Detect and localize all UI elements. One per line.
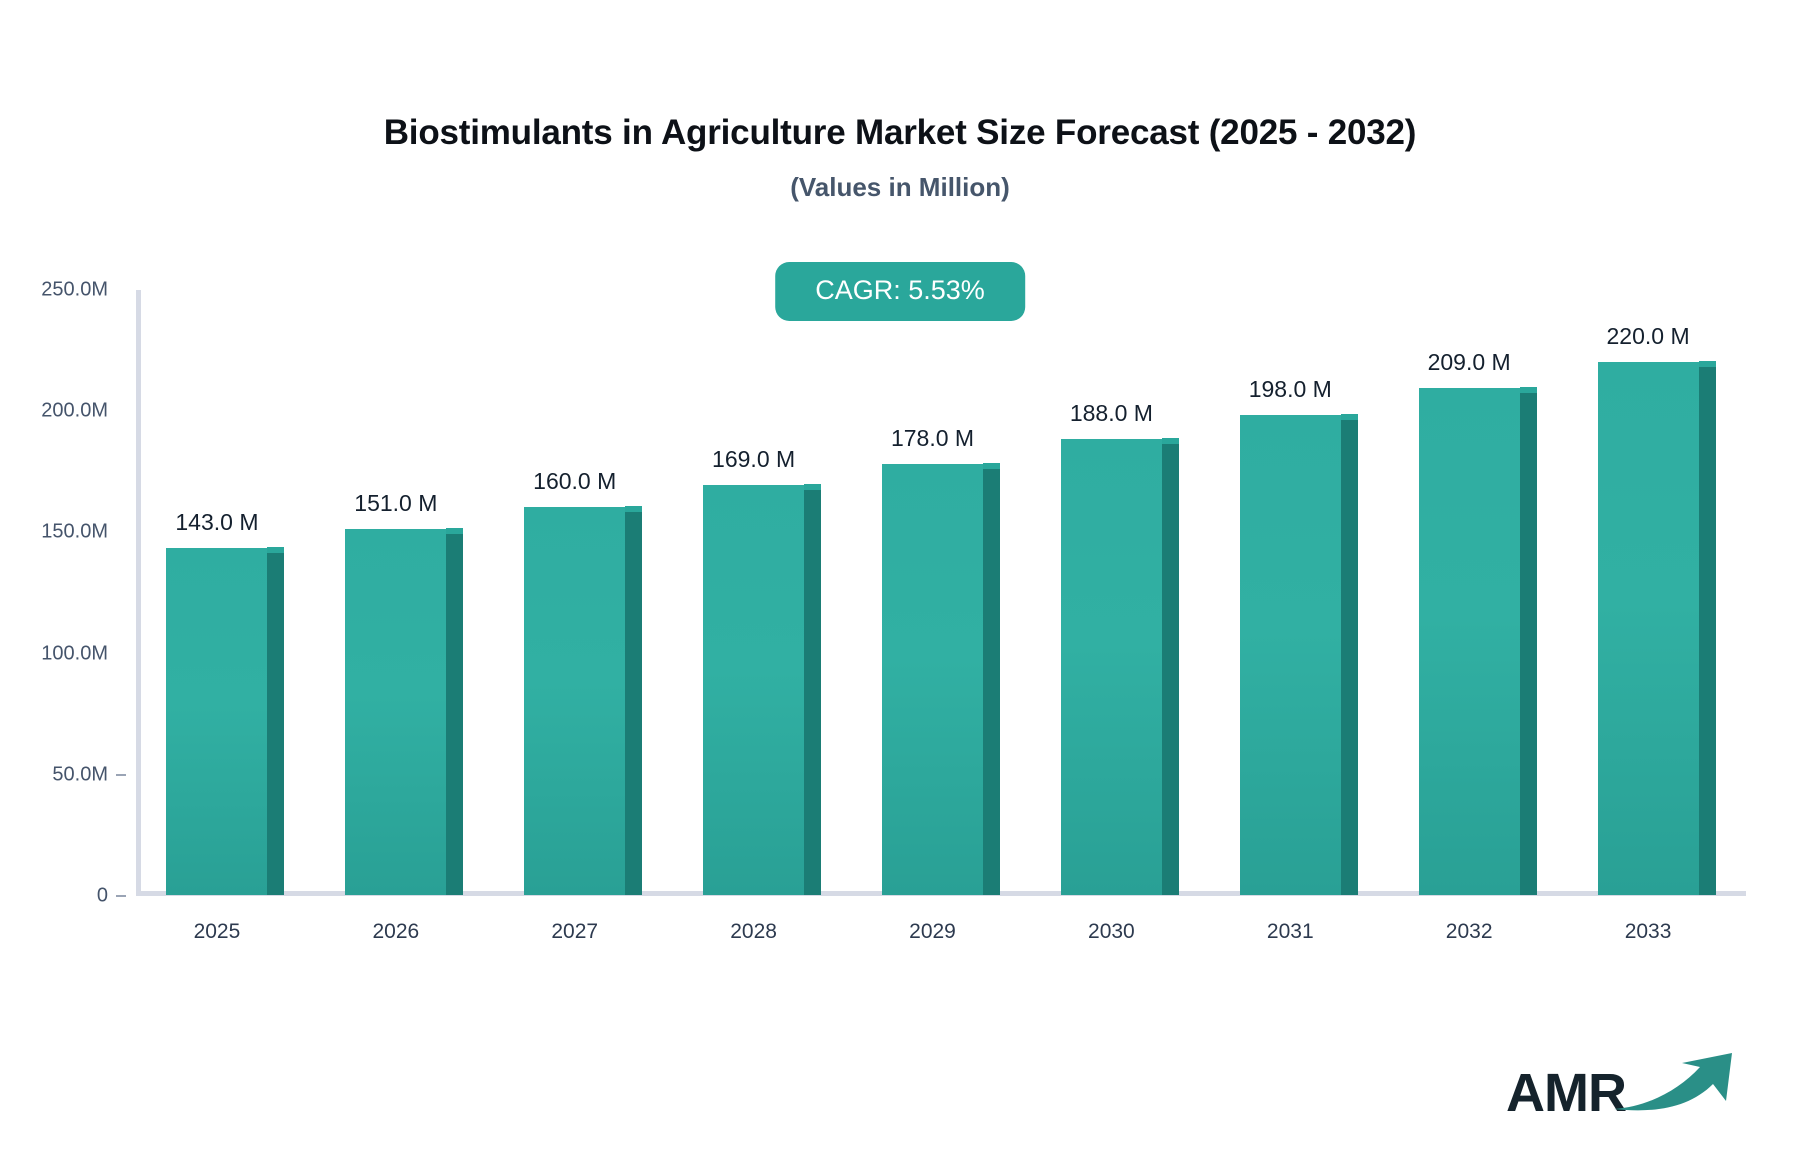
bar-side-face [1162,439,1179,895]
bar[interactable]: 188.0 M [1061,439,1179,895]
bar-front-face [1061,439,1162,895]
bar-top-face [983,463,1000,469]
growth-arrow-icon [1612,1051,1742,1118]
bar-front-face [703,485,804,895]
bar[interactable]: 160.0 M [524,507,642,895]
bar-value-label: 169.0 M [712,446,795,473]
bar-side-face [983,464,1000,895]
bar[interactable]: 220.0 M [1598,362,1716,895]
bar-side-face [267,548,284,895]
x-axis-tick-label: 2029 [909,920,956,944]
bar-top-face [1520,387,1537,393]
x-axis-tick-label: 2025 [194,920,241,944]
bar-top-face [1162,438,1179,444]
bar-front-face [345,529,446,895]
y-axis-tick-label: 50.0M [0,763,108,786]
bar[interactable]: 151.0 M [345,529,463,895]
bar-side-face [804,485,821,895]
bar-front-face [1240,415,1341,895]
bar-value-label: 143.0 M [175,509,258,536]
bar-side-face [1520,388,1537,895]
bar-value-label: 209.0 M [1428,349,1511,376]
bar-top-face [446,528,463,534]
x-axis-tick-label: 2027 [551,920,598,944]
bar-side-face [1699,362,1716,895]
y-axis-tick-label: 0 [0,885,108,908]
bar-value-label: 220.0 M [1606,323,1689,350]
bar-top-face [1699,361,1716,367]
bar-top-face [625,506,642,512]
x-axis-tick-label: 2033 [1625,920,1672,944]
x-axis-tick-label: 2031 [1267,920,1314,944]
x-axis-tick-label: 2032 [1446,920,1493,944]
bar-front-face [882,464,983,895]
bar-front-face [1598,362,1699,895]
bar-value-label: 178.0 M [891,425,974,452]
bar-front-face [166,548,267,895]
bar-top-face [1341,414,1358,420]
chart-subtitle: (Values in Million) [0,172,1800,203]
bar-top-face [804,484,821,490]
bar-value-label: 188.0 M [1070,400,1153,427]
amr-logo-text: AMR [1506,1066,1626,1120]
bar-side-face [1341,415,1358,895]
bar-top-face [267,547,284,553]
chart-canvas: Biostimulants in Agriculture Market Size… [0,0,1800,1156]
bar-front-face [1419,388,1520,895]
bar[interactable]: 169.0 M [703,485,821,895]
y-axis-tick-mark [116,774,126,776]
x-axis-tick-label: 2026 [372,920,419,944]
bar-front-face [524,507,625,895]
x-axis-tick-label: 2030 [1088,920,1135,944]
bar-value-label: 160.0 M [533,468,616,495]
y-axis-tick-label: 200.0M [0,400,108,423]
bar[interactable]: 198.0 M [1240,415,1358,895]
bar-side-face [625,507,642,895]
y-axis-tick-label: 250.0M [0,279,108,302]
bar-side-face [446,529,463,895]
amr-logo: AMR [1506,1051,1742,1120]
page-title: Biostimulants in Agriculture Market Size… [0,113,1800,153]
bar-value-label: 198.0 M [1249,376,1332,403]
bar[interactable]: 143.0 M [166,548,284,895]
bar[interactable]: 209.0 M [1419,388,1537,895]
y-axis-line [136,290,141,896]
bar-value-label: 151.0 M [354,490,437,517]
y-axis-tick-label: 150.0M [0,521,108,544]
x-axis-tick-label: 2028 [730,920,777,944]
y-axis-tick-mark [116,895,126,897]
bar[interactable]: 178.0 M [882,464,1000,895]
plot-area: 143.0 M151.0 M160.0 M169.0 M178.0 M188.0… [136,290,1746,900]
y-axis-tick-label: 100.0M [0,642,108,665]
